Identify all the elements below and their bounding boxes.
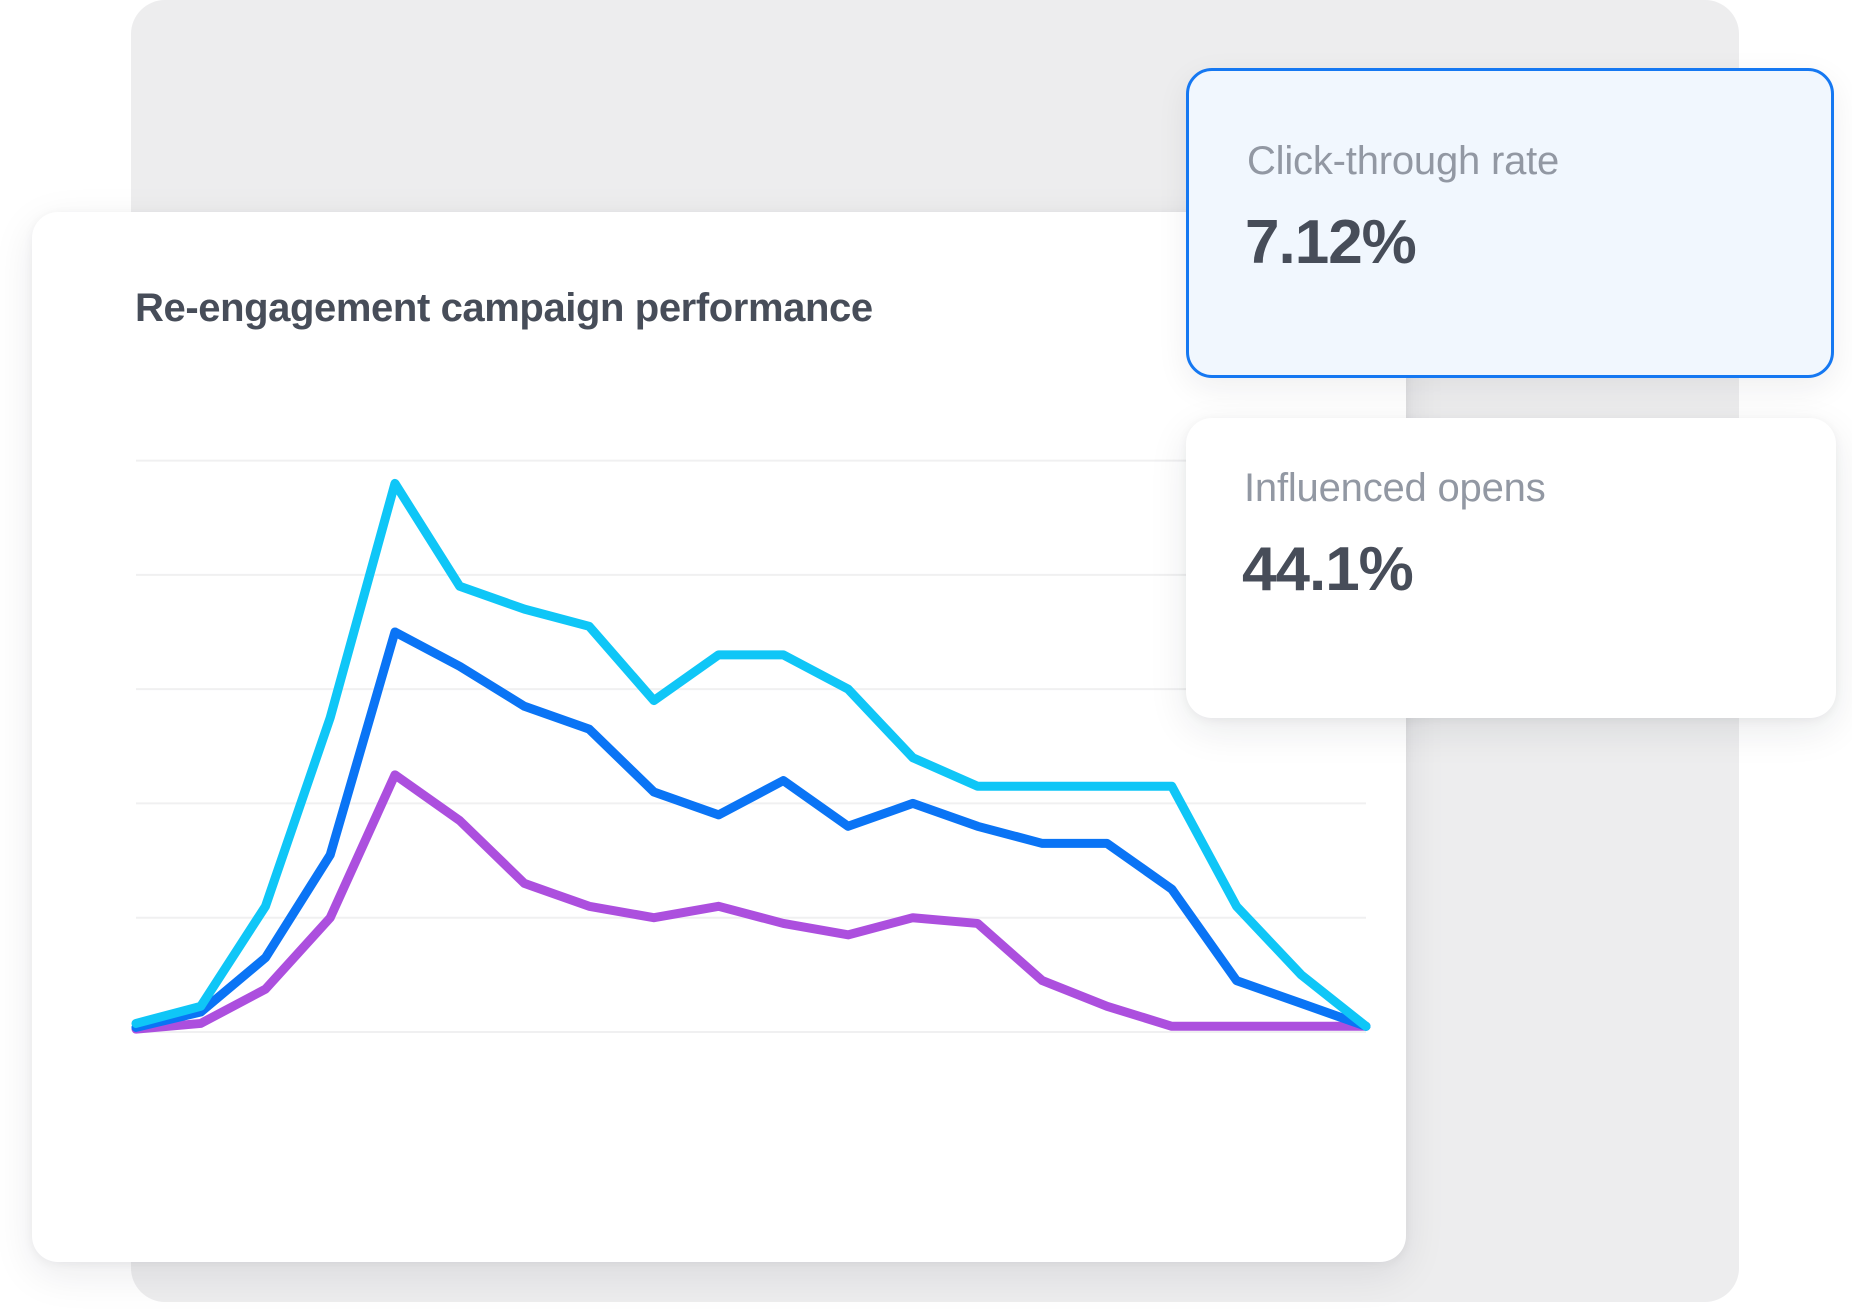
stat-value: 44.1%	[1242, 534, 1413, 605]
stat-value: 7.12%	[1245, 207, 1416, 278]
page-title: Re-engagement campaign performance	[135, 286, 873, 331]
chart-series-line	[136, 632, 1366, 1027]
stat-label: Click-through rate	[1247, 139, 1559, 184]
line-chart-plot-area	[136, 432, 1366, 1032]
stat-card-click-through-rate[interactable]: Click-through rate 7.12%	[1186, 68, 1834, 378]
line-chart-svg	[136, 432, 1366, 1032]
stat-card-influenced-opens[interactable]: Influenced opens 44.1%	[1186, 418, 1836, 718]
chart-series-line	[136, 483, 1366, 1026]
screenshot-root: Re-engagement campaign performance Click…	[0, 0, 1852, 1316]
stat-label: Influenced opens	[1244, 466, 1546, 511]
